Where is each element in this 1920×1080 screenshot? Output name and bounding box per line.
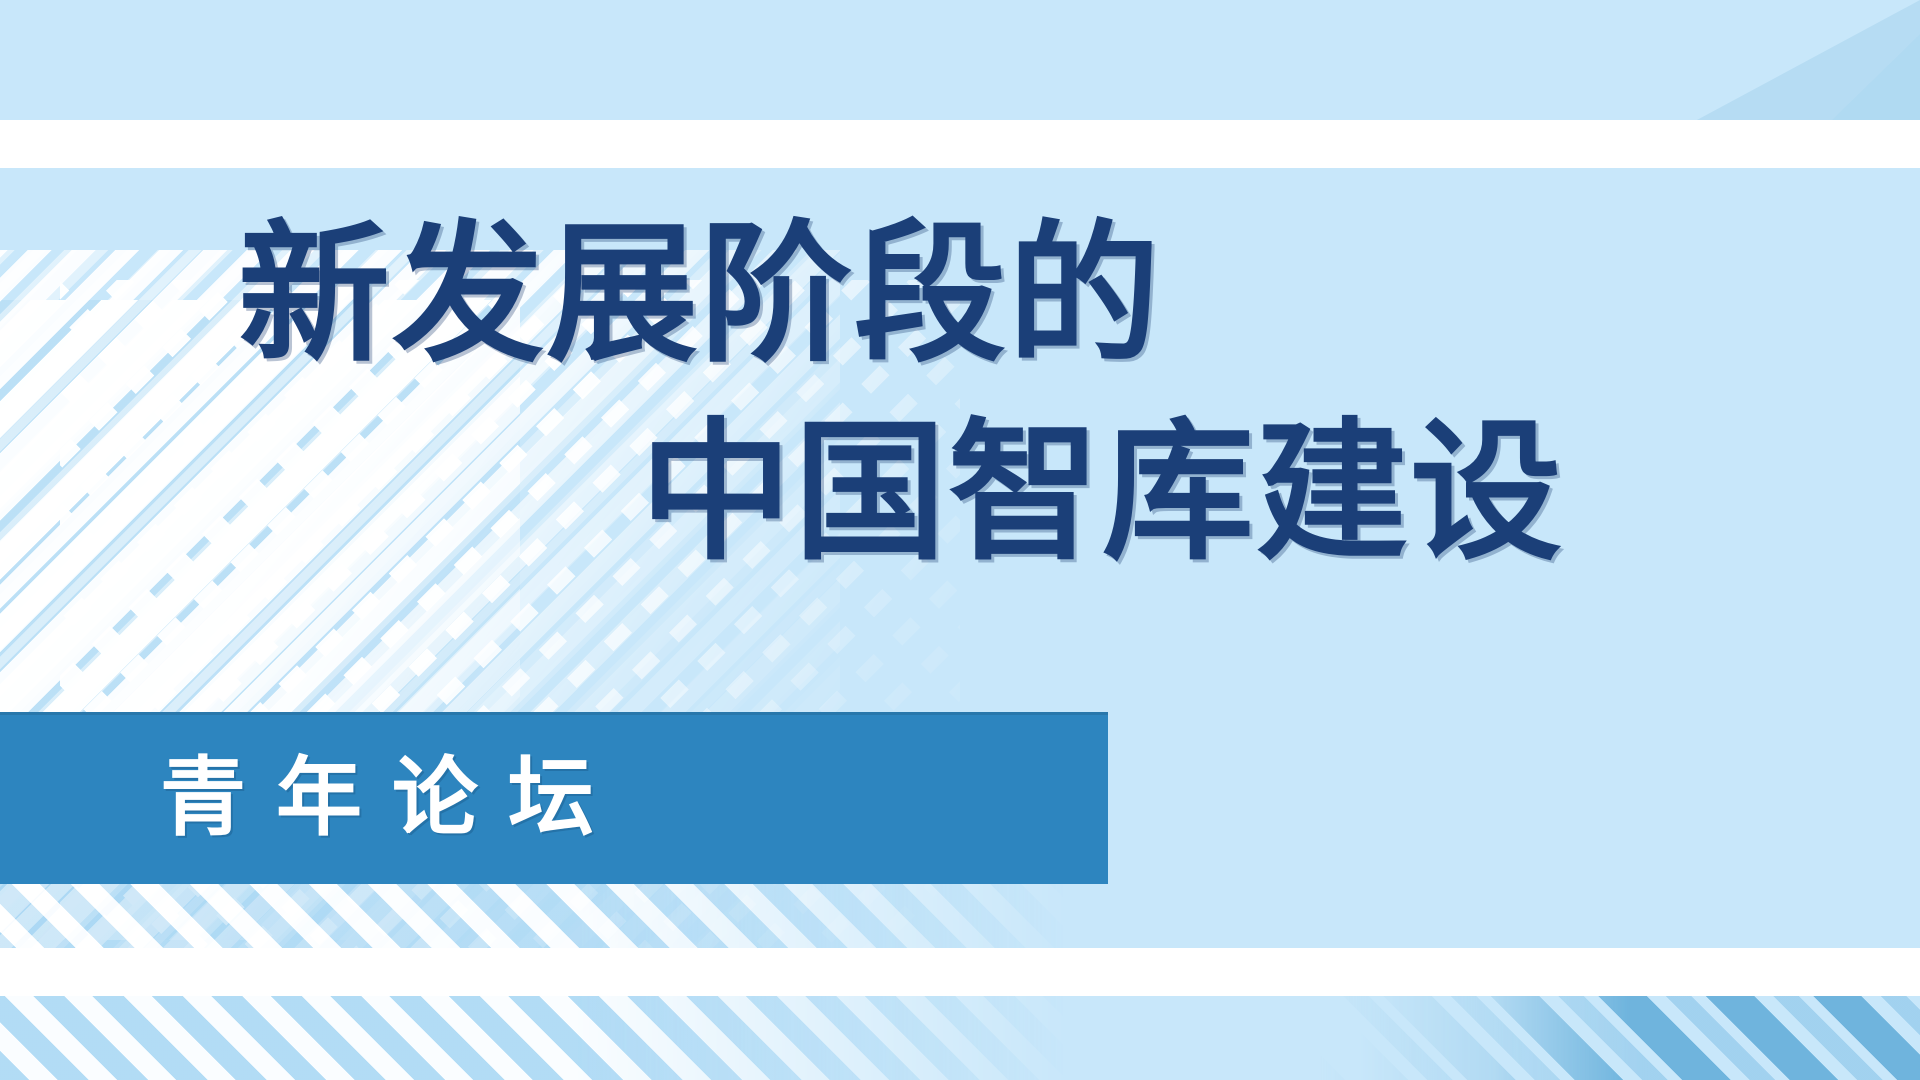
poster-canvas: 新发展阶段的 中国智库建设 青年论坛 [0,0,1920,1080]
poster-title: 新发展阶段的 中国智库建设 [0,196,1920,591]
title-line-2: 中国智库建设 [640,394,1920,592]
subtitle-banner-label: 青年论坛 [160,755,624,841]
subtitle-banner: 青年论坛 [0,712,1108,884]
top-divider-rule [0,120,1920,168]
title-line-1: 新发展阶段的 [238,196,1920,394]
bottom-divider-rule [0,948,1920,996]
